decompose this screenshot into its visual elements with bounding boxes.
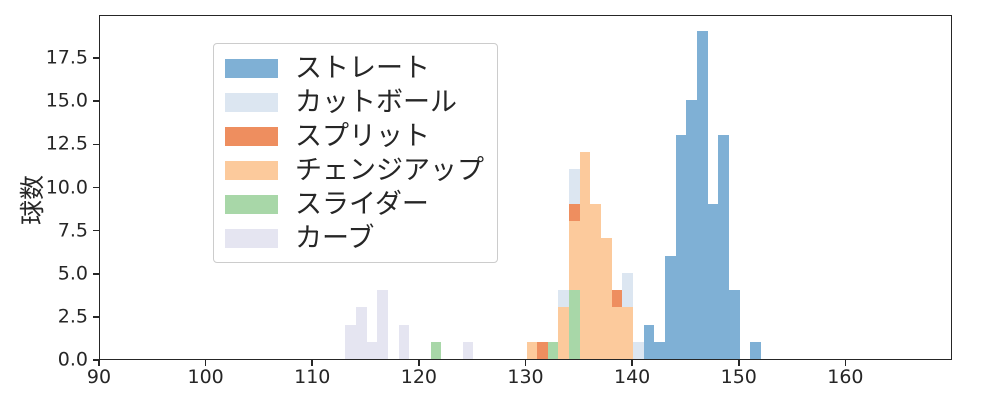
x-axis-tick-label: 160: [827, 368, 863, 387]
histogram-bar: [654, 342, 665, 359]
histogram-bar: [463, 342, 474, 359]
histogram-bar: [686, 100, 697, 359]
legend-swatch-icon: [225, 229, 278, 248]
legend-swatch-icon: [225, 59, 278, 78]
histogram-bar: [633, 342, 644, 359]
y-axis-tick-label: 0.0: [58, 351, 88, 370]
legend-item[interactable]: チェンジアップ: [225, 153, 484, 187]
legend-item-label: スプリット: [295, 123, 430, 150]
histogram-bar: [356, 307, 367, 359]
histogram-bar: [367, 342, 378, 359]
histogram-bar: [612, 290, 623, 307]
y-axis-tick-label: 12.5: [46, 135, 88, 154]
histogram-bar: [569, 221, 580, 290]
histogram-bar: [558, 290, 569, 307]
histogram-bar: [537, 342, 548, 359]
legend-item-label: スライダー: [295, 191, 429, 218]
histogram-bar: [601, 238, 612, 359]
y-axis-tick-label: 2.5: [58, 307, 88, 326]
histogram-figure: 球数 0.02.55.07.510.012.515.017.5 90100110…: [0, 0, 1000, 400]
y-axis-tick-label: 7.5: [58, 221, 88, 240]
histogram-bar: [644, 325, 655, 360]
x-axis-tick-label: 140: [614, 368, 650, 387]
legend: ストレートカットボールスプリットチェンジアップスライダーカーブ: [213, 43, 498, 263]
legend-item-label: チェンジアップ: [295, 157, 484, 184]
legend-item[interactable]: スプリット: [225, 119, 484, 153]
histogram-bar: [697, 31, 708, 359]
histogram-bar: [750, 342, 761, 359]
histogram-bar: [580, 152, 591, 359]
histogram-bar: [548, 342, 559, 359]
histogram-bar: [622, 307, 633, 359]
legend-item[interactable]: カーブ: [225, 221, 484, 255]
histogram-bar: [622, 273, 633, 308]
x-axis-tick-label: 120: [401, 368, 437, 387]
legend-swatch-icon: [225, 161, 278, 180]
y-axis-tick-label: 10.0: [46, 178, 88, 197]
histogram-bar: [558, 307, 569, 359]
histogram-bar: [431, 342, 442, 359]
x-axis-tick-label: 110: [294, 368, 330, 387]
x-axis-tick-label: 100: [187, 368, 223, 387]
histogram-bar: [708, 204, 719, 359]
y-axis-tick-label: 17.5: [46, 49, 88, 68]
histogram-bar: [676, 135, 687, 359]
histogram-bar: [665, 256, 676, 360]
histogram-bar: [718, 135, 729, 359]
histogram-bar: [377, 290, 388, 359]
legend-item-label: カーブ: [295, 225, 374, 252]
histogram-bar: [345, 325, 356, 360]
legend-item[interactable]: スライダー: [225, 187, 484, 221]
legend-swatch-icon: [225, 93, 278, 112]
legend-swatch-icon: [225, 195, 278, 214]
x-axis-tick-label: 130: [507, 368, 543, 387]
legend-item-label: カットボール: [295, 89, 457, 116]
histogram-bar: [569, 169, 580, 204]
histogram-bar: [612, 307, 623, 359]
x-axis-tick-label: 150: [721, 368, 757, 387]
histogram-bar: [569, 290, 580, 359]
legend-swatch-icon: [225, 127, 278, 146]
histogram-bar: [590, 204, 601, 359]
x-axis-tick-label: 90: [87, 368, 111, 387]
histogram-bar: [399, 325, 410, 360]
legend-item[interactable]: ストレート: [225, 51, 484, 85]
y-axis-tick-label: 5.0: [58, 264, 88, 283]
y-axis-label: 球数: [13, 175, 49, 225]
y-axis-tick-label: 15.0: [46, 92, 88, 111]
histogram-bar: [527, 342, 538, 359]
legend-item-label: ストレート: [295, 55, 430, 82]
histogram-bar: [729, 290, 740, 359]
histogram-bar: [569, 204, 580, 221]
plot-area: ストレートカットボールスプリットチェンジアップスライダーカーブ: [99, 15, 952, 360]
legend-item[interactable]: カットボール: [225, 85, 484, 119]
